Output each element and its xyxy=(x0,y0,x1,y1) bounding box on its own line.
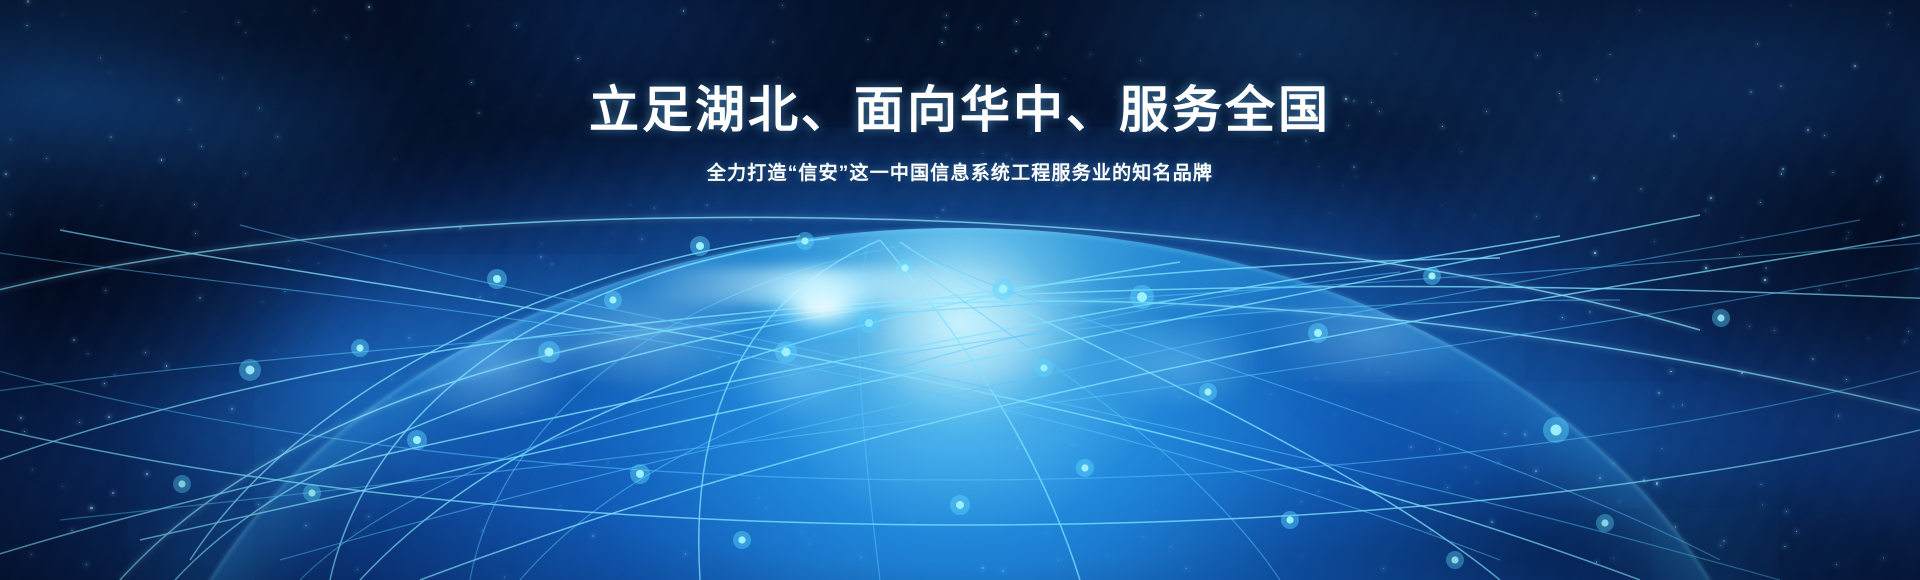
light-burst-flare xyxy=(640,268,1010,304)
banner-subline: 全力打造“信安”这一中国信息系统工程服务业的知名品牌 xyxy=(0,158,1920,185)
hero-banner: 立足湖北、面向华中、服务全国 全力打造“信安”这一中国信息系统工程服务业的知名品… xyxy=(0,0,1920,580)
banner-headline: 立足湖北、面向华中、服务全国 xyxy=(0,82,1920,138)
banner-copy: 立足湖北、面向华中、服务全国 全力打造“信安”这一中国信息系统工程服务业的知名品… xyxy=(0,82,1920,185)
